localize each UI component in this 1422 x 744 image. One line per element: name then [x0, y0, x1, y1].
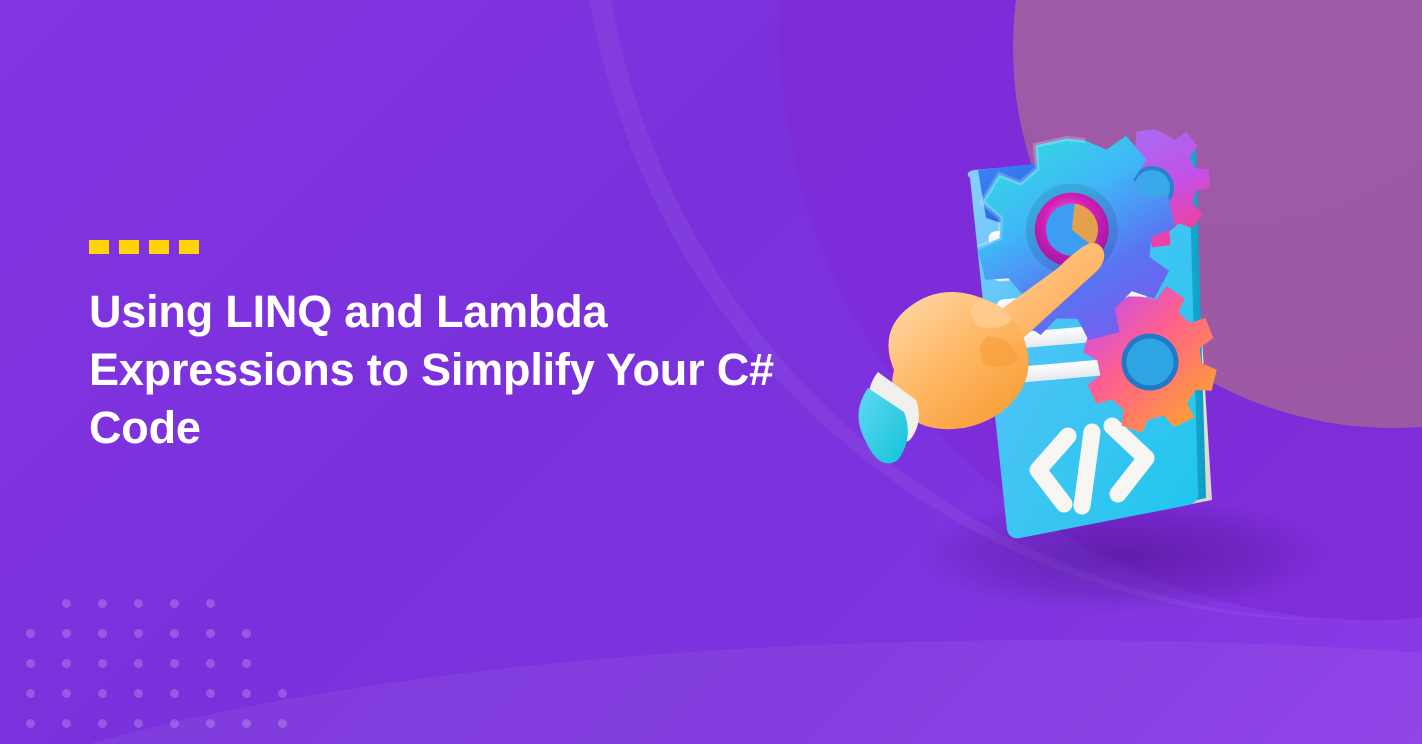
grid-dot [134, 599, 143, 608]
dash-4 [179, 240, 199, 254]
grid-dot [206, 659, 215, 668]
grid-dot [134, 659, 143, 668]
dot-grid-pattern [26, 599, 256, 734]
grid-dot [26, 689, 35, 698]
title-line-1: Using LINQ and Lambda [89, 286, 607, 337]
grid-dot [62, 719, 71, 728]
grid-dot [26, 659, 35, 668]
grid-dot [62, 599, 71, 608]
grid-dot [170, 659, 179, 668]
grid-dot [26, 719, 35, 728]
grid-dot [62, 629, 71, 638]
grid-dot [278, 689, 287, 698]
grid-dot [170, 629, 179, 638]
grid-dot [62, 689, 71, 698]
grid-dot [98, 629, 107, 638]
grid-dot [134, 629, 143, 638]
grid-dot [206, 689, 215, 698]
yellow-dash-accent [89, 240, 849, 254]
dash-1 [89, 240, 109, 254]
grid-dot [242, 719, 251, 728]
grid-dot [98, 599, 107, 608]
grid-dot [170, 599, 179, 608]
promo-banner: Using LINQ and Lambda Expressions to Sim… [0, 0, 1422, 744]
title-line-3: Code [89, 402, 201, 453]
grid-dot [242, 629, 251, 638]
grid-dot [98, 689, 107, 698]
dash-2 [119, 240, 139, 254]
grid-dot [206, 629, 215, 638]
grid-dot [134, 689, 143, 698]
dash-3 [149, 240, 169, 254]
grid-dot [98, 659, 107, 668]
code-slash [1082, 432, 1092, 506]
grid-dot [278, 719, 287, 728]
grid-dot [206, 719, 215, 728]
grid-dot [98, 719, 107, 728]
page-title: Using LINQ and Lambda Expressions to Sim… [89, 283, 849, 457]
grid-dot [206, 599, 215, 608]
grid-dot [62, 659, 71, 668]
grid-dot [242, 689, 251, 698]
grid-dot [242, 659, 251, 668]
grid-dot [134, 719, 143, 728]
hero-illustration [860, 100, 1330, 600]
grid-dot [170, 689, 179, 698]
headline-block: Using LINQ and Lambda Expressions to Sim… [89, 240, 849, 457]
grid-dot [170, 719, 179, 728]
title-line-2: Expressions to Simplify Your C# [89, 344, 774, 395]
grid-dot [26, 629, 35, 638]
